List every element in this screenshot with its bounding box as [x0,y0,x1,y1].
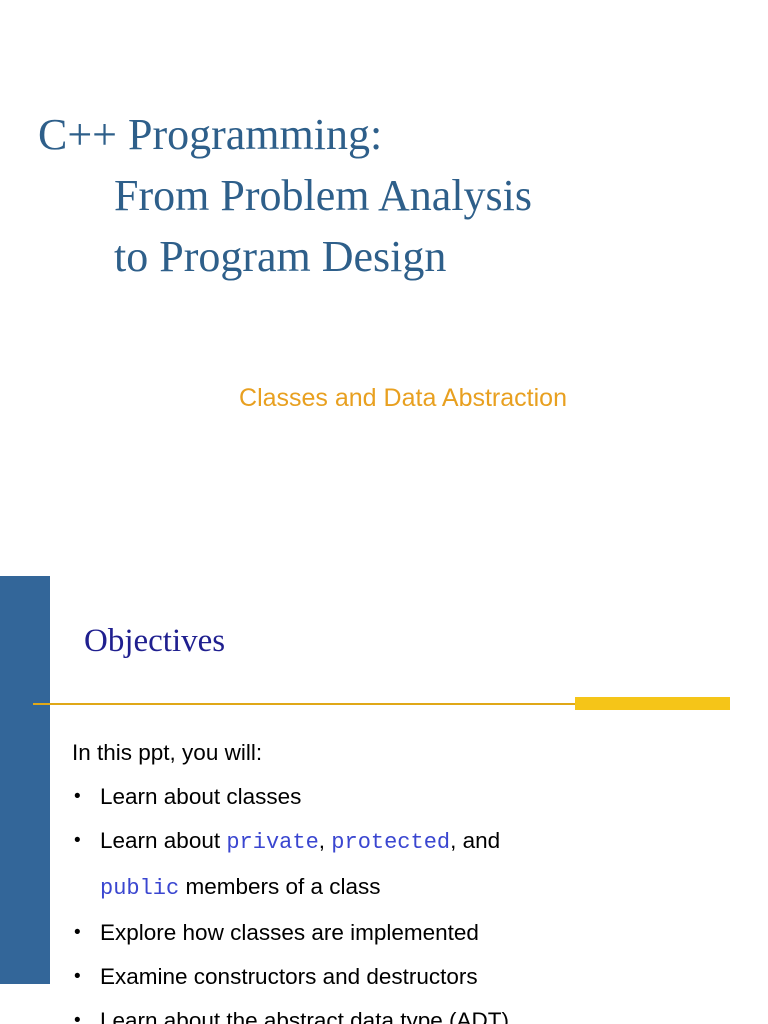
code-keyword: protected [331,830,450,855]
list-item-label: Examine constructors and destructors [100,964,478,989]
text-run: , and [450,828,500,853]
list-item: •Explore how classes are implemented [72,911,732,955]
bullet-icon: • [74,955,81,999]
title-line-3: to Program Design [38,226,738,287]
objectives-intro: In this ppt, you will: [72,731,732,775]
code-keyword: private [226,830,318,855]
bullet-icon: • [74,911,81,955]
list-item-label: Explore how classes are implemented [100,920,479,945]
objectives-body: In this ppt, you will: •Learn about clas… [72,731,732,1024]
text-run: Learn about the abstract data type (ADT) [100,1008,509,1024]
presentation-subtitle: Classes and Data Abstraction [0,384,768,413]
text-run: Explore how classes are implemented [100,920,479,945]
objectives-list: •Learn about classes•Learn about private… [72,775,732,1024]
heading-divider-accent [575,697,730,710]
text-run: Learn about classes [100,784,301,809]
bullet-icon: • [74,775,81,819]
presentation-title: C++ Programming: From Problem Analysis t… [38,104,738,287]
list-item-label: Learn about private, protected, andpubli… [100,828,500,899]
text-run: Learn about [100,828,226,853]
code-keyword: public [100,876,179,901]
bullet-icon: • [74,999,81,1024]
text-run: Examine constructors and destructors [100,964,478,989]
title-slide: C++ Programming: From Problem Analysis t… [0,0,768,576]
slide-sidebar-accent [0,576,50,984]
list-item: •Examine constructors and destructors [72,955,732,999]
list-item: •Learn about private, protected, andpubl… [72,819,732,911]
title-line-1: C++ Programming: [38,104,738,165]
list-item: •Learn about classes [72,775,732,819]
list-item-label: Learn about the abstract data type (ADT) [100,1008,509,1024]
list-item: •Learn about the abstract data type (ADT… [72,999,732,1024]
title-line-2: From Problem Analysis [38,165,738,226]
list-item-label: Learn about classes [100,784,301,809]
bullet-icon: • [74,819,81,863]
text-run: , [319,828,332,853]
text-run: members of a class [179,874,380,899]
objectives-slide: Objectives In this ppt, you will: •Learn… [0,576,768,1024]
page-title: Objectives [84,623,225,660]
